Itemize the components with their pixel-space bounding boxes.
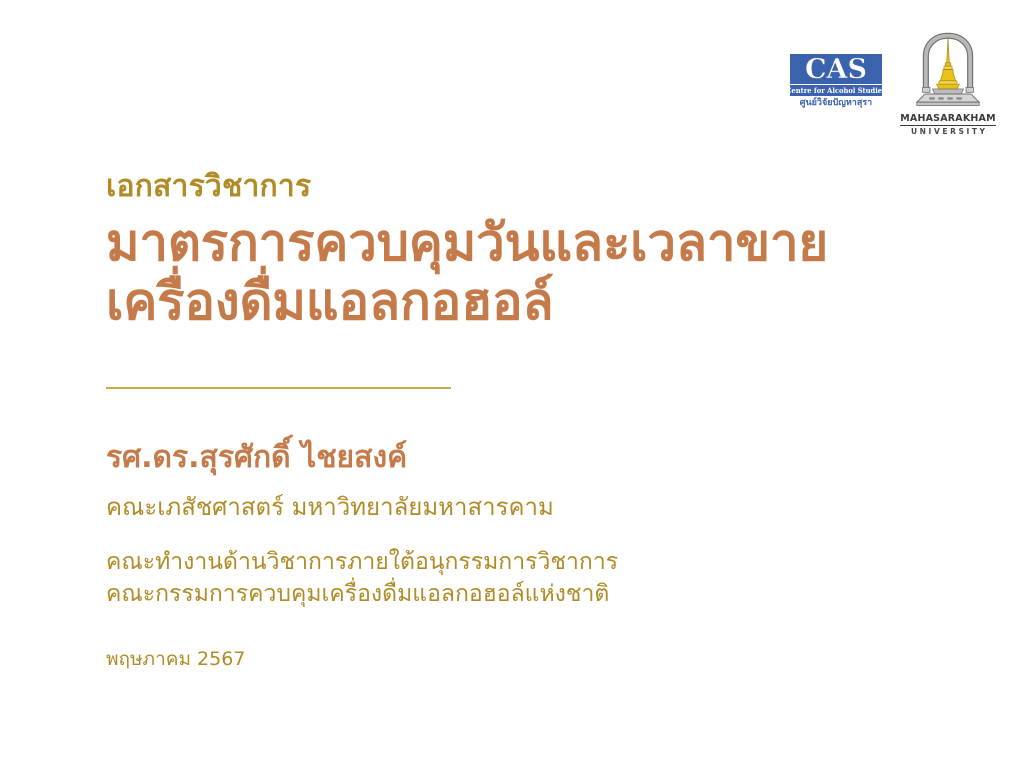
cas-thai-subtitle: ศูนย์วิจัยปัญหาสุรา [800, 99, 873, 109]
cas-tagline-text: Centre for Alcohol Studies [786, 87, 886, 94]
cas-logo: CAS Centre for Alcohol Studies ศูนย์วิจั… [790, 54, 882, 109]
page-title-line-2: เครื่องดื่มแอลกอฮอล์ [106, 273, 926, 332]
author-name: รศ.ดร.สุรศักดิ์ ไชยสงค์ [106, 439, 926, 477]
publication-date: พฤษภาคม 2567 [106, 647, 926, 672]
affiliation-line-1: คณะทำงานด้านวิชาการภายใต้อนุกรรมการวิชาก… [106, 546, 926, 579]
affiliation-line-2: คณะกรรมการควบคุมเครื่องดื่มแอลกอฮอล์แห่ง… [106, 578, 926, 611]
page-title: มาตรการควบคุมวันและเวลาขาย เครื่องดื่มแอ… [106, 214, 926, 332]
cas-tagline-bar: Centre for Alcohol Studies [790, 85, 882, 96]
title-slide: CAS Centre for Alcohol Studies ศูนย์วิจั… [0, 0, 1024, 768]
mahasarakham-university-logo: MAHASARAKHAM UNIVERSITY [900, 30, 996, 137]
cas-wordmark: CAS [790, 54, 882, 84]
author-affiliation-secondary: คณะทำงานด้านวิชาการภายใต้อนุกรรมการวิชาก… [106, 546, 926, 611]
cover-content: เอกสารวิชาการ มาตรการควบคุมวันและเวลาขาย… [106, 168, 926, 672]
page-title-line-1: มาตรการควบคุมวันและเวลาขาย [106, 214, 926, 273]
cas-wordmark-text: CAS [805, 56, 867, 83]
document-kicker: เอกสารวิชาการ [106, 168, 926, 206]
title-divider [106, 387, 451, 389]
msu-name-line2: UNIVERSITY [908, 128, 987, 136]
msu-name-line1: MAHASARAKHAM [900, 114, 996, 126]
author-affiliation-primary: คณะเภสัชศาสตร์ มหาวิทยาลัยมหาสารคาม [106, 492, 926, 523]
stupa-emblem-icon [907, 30, 989, 112]
logo-strip: CAS Centre for Alcohol Studies ศูนย์วิจั… [790, 30, 996, 137]
